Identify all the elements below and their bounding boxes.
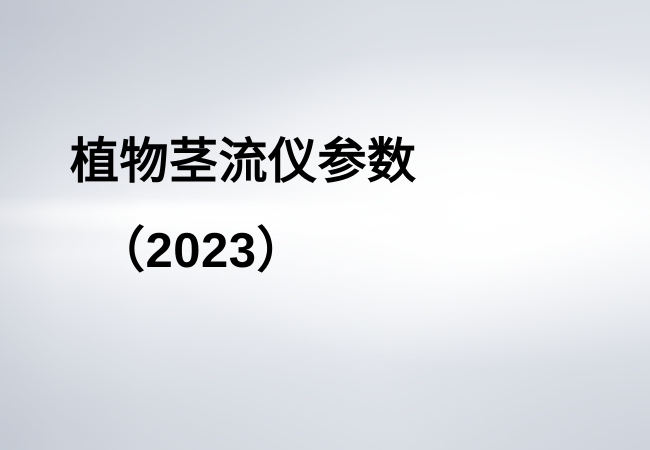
slide-title-line-1: 植物茎流仪参数: [70, 133, 417, 191]
title-slide: 植物茎流仪参数 （2023）: [0, 0, 650, 450]
slide-title-block: 植物茎流仪参数 （2023）: [0, 0, 650, 450]
slide-title-line-2: （2023）: [96, 222, 306, 280]
